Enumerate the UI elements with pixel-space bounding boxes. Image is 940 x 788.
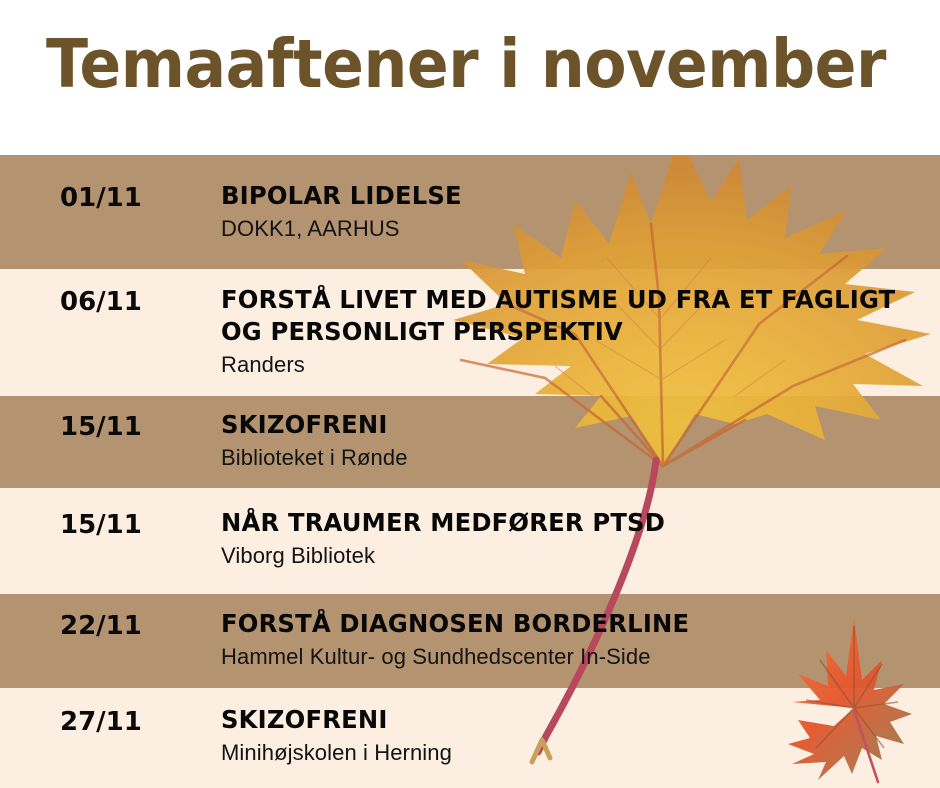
row-date: 22/11 [60, 611, 142, 641]
row-title: FORSTÅ DIAGNOSEN BORDERLINE [221, 608, 911, 640]
row-venue: Minihøjskolen i Herning [221, 739, 932, 768]
row-title: BIPOLAR LIDELSE [221, 180, 911, 212]
schedule-row-2[interactable]: 06/11 FORSTÅ LIVET MED AUTISME UD FRA ET… [0, 269, 940, 396]
row-venue: Hammel Kultur- og Sundhedscenter In-Side [221, 643, 932, 672]
row-date: 15/11 [60, 510, 142, 540]
row-body: BIPOLAR LIDELSE DOKK1, AARHUS [221, 180, 932, 244]
row-body: FORSTÅ LIVET MED AUTISME UD FRA ET FAGLI… [221, 284, 932, 380]
row-venue: Viborg Bibliotek [221, 542, 932, 571]
row-date: 27/11 [60, 707, 142, 737]
row-title: FORSTÅ LIVET MED AUTISME UD FRA ET FAGLI… [221, 284, 911, 348]
poster-canvas: 01/11 BIPOLAR LIDELSE DOKK1, AARHUS 06/1… [0, 0, 940, 788]
schedule-row-3[interactable]: 15/11 SKIZOFRENI Biblioteket i Rønde [0, 396, 940, 488]
schedule-row-6[interactable]: 27/11 SKIZOFRENI Minihøjskolen i Herning [0, 688, 940, 788]
row-date: 15/11 [60, 412, 142, 442]
row-venue: Randers [221, 351, 932, 380]
row-body: SKIZOFRENI Minihøjskolen i Herning [221, 704, 932, 768]
row-title: SKIZOFRENI [221, 704, 911, 736]
schedule-row-1[interactable]: 01/11 BIPOLAR LIDELSE DOKK1, AARHUS [0, 155, 940, 269]
page-title: Temaaftener i november [46, 26, 886, 103]
row-body: SKIZOFRENI Biblioteket i Rønde [221, 409, 932, 473]
row-venue: DOKK1, AARHUS [221, 215, 932, 244]
row-venue: Biblioteket i Rønde [221, 444, 932, 473]
row-body: NÅR TRAUMER MEDFØRER PTSD Viborg Bibliot… [221, 507, 932, 571]
poster-header: Temaaftener i november [0, 0, 940, 155]
schedule-row-4[interactable]: 15/11 NÅR TRAUMER MEDFØRER PTSD Viborg B… [0, 488, 940, 594]
schedule-row-5[interactable]: 22/11 FORSTÅ DIAGNOSEN BORDERLINE Hammel… [0, 594, 940, 688]
row-date: 06/11 [60, 287, 142, 317]
row-title: NÅR TRAUMER MEDFØRER PTSD [221, 507, 911, 539]
row-body: FORSTÅ DIAGNOSEN BORDERLINE Hammel Kultu… [221, 608, 932, 672]
row-title: SKIZOFRENI [221, 409, 911, 441]
row-date: 01/11 [60, 183, 142, 213]
